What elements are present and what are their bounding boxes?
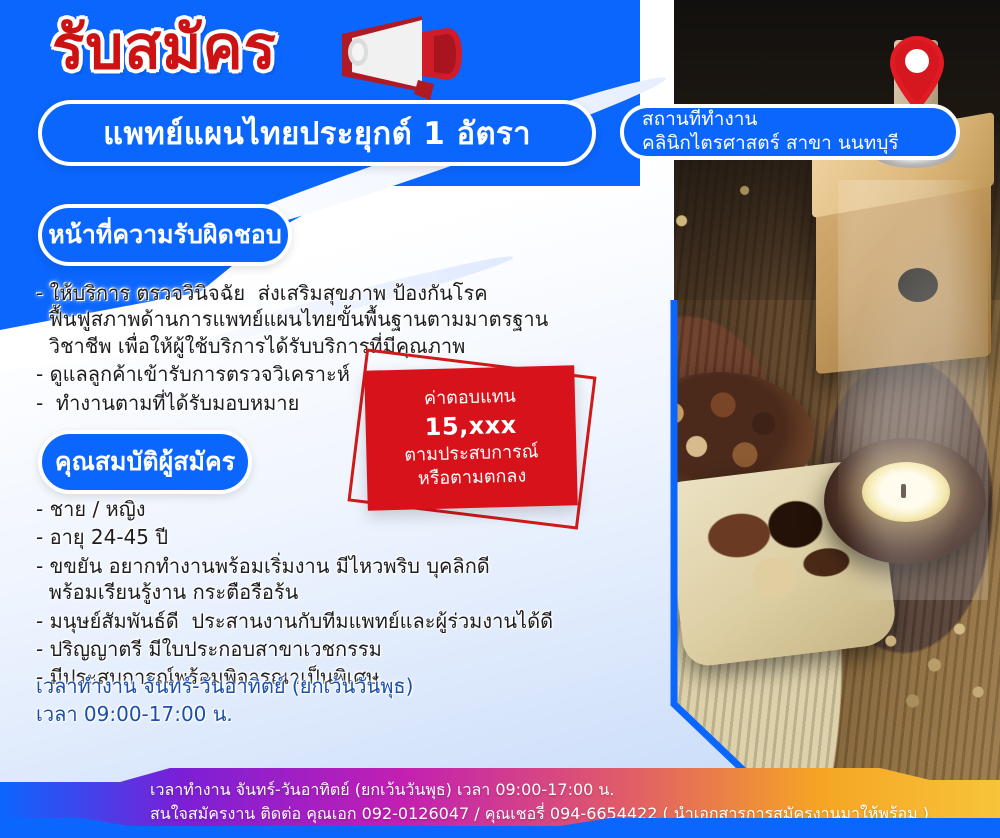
list-item: - ให้บริการ ตรวจวินิจฉัย ส่งเสริมสุขภาพ …: [36, 280, 556, 359]
work-location-value: คลินิกไตรศาสตร์ สาขา นนทบุรี: [642, 132, 938, 156]
qualifications-list: - ชาย / หญิง - อายุ 24-45 ปี - ขขยัน อยา…: [36, 496, 576, 693]
salary-note-2: หรือตามตกลง: [418, 465, 527, 492]
position-title-text: แพทย์แผนไทยประยุกต์ 1 อัตรา: [103, 108, 531, 158]
list-item: - ขขยัน อยากทำงานพร้อมเริ่มงาน มีไหวพริบ…: [36, 553, 576, 606]
salary-amount: 15,xxx: [424, 409, 517, 444]
recruitment-poster: รับสมัคร แพทย์แผนไทยประยุกต์ 1 อัตรา สถา…: [0, 0, 1000, 838]
megaphone-icon: [330, 6, 480, 106]
work-hours-block: เวลาทำงาน จันทร์-วันอาทิตย์ (ยกเว้นวันพุ…: [36, 672, 556, 729]
location-pin-icon: [888, 34, 946, 114]
list-item: - อายุ 24-45 ปี: [36, 524, 576, 550]
headline-recruiting: รับสมัคร: [52, 18, 277, 78]
work-hours-line-2: เวลา 09:00-17:00 น.: [36, 700, 556, 728]
salary-card: ค่าตอบแทน 15,xxx ตามประสบการณ์ หรือตามตก…: [364, 365, 578, 510]
list-item: - ปริญญาตรี มีใบประกอบสาขาเวชกรรม: [36, 636, 576, 662]
duties-heading-text: หน้าที่ความรับผิดชอบ: [48, 215, 281, 255]
work-location-pill: สถานที่ทำงาน คลินิกไตรศาสตร์ สาขา นนทบุร…: [620, 104, 960, 160]
qualifications-heading-text: คุณสมบัติผู้สมัคร: [55, 442, 235, 482]
work-location-label: สถานที่ทำงาน: [642, 108, 938, 132]
work-hours-line-1: เวลาทำงาน จันทร์-วันอาทิตย์ (ยกเว้นวันพุ…: [36, 672, 556, 700]
qualifications-heading-pill: คุณสมบัติผู้สมัคร: [38, 430, 252, 494]
list-item: - มนุษย์สัมพันธ์ดี ประสานงานกับทีมแพทย์แ…: [36, 608, 576, 634]
position-title-pill: แพทย์แผนไทยประยุกต์ 1 อัตรา: [38, 100, 596, 166]
duties-heading-pill: หน้าที่ความรับผิดชอบ: [38, 204, 292, 266]
salary-note-1: ตามประสบการณ์: [404, 440, 539, 468]
list-item: - ชาย / หญิง: [36, 496, 576, 522]
salary-label: ค่าตอบแทน: [424, 385, 516, 412]
dried-twigs: [844, 596, 1000, 746]
footer-line-1: เวลาทำงาน จันทร์-วันอาทิตย์ (ยกเว้นวันพุ…: [150, 778, 940, 802]
smoke-wisps: [838, 180, 988, 600]
